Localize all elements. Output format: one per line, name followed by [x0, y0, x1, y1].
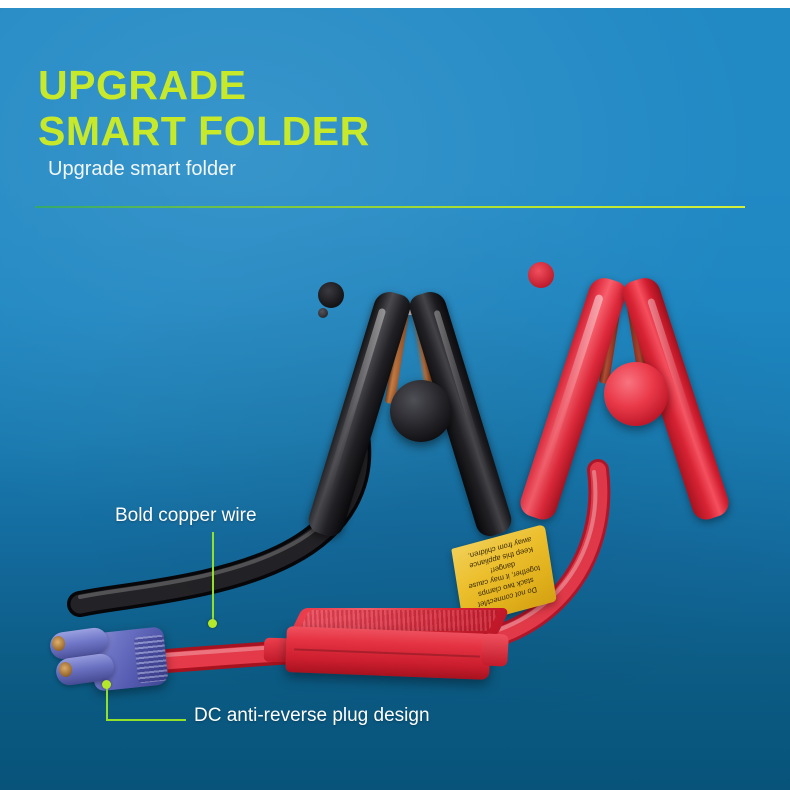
clamp-red [528, 262, 758, 572]
clamp-black-pivot-dot [318, 308, 328, 318]
clamp-black-pivot-hub [390, 380, 452, 442]
headline-line-1: UPGRADE [38, 62, 247, 108]
smart-folder-module [286, 608, 524, 680]
callout-dc-plug-marker [102, 680, 111, 689]
ec5-connector-plug [48, 628, 180, 700]
header-divider [35, 206, 745, 208]
product-banner: Do not connect/let stack two clamps toge… [0, 0, 790, 790]
warning-tag-text: Do not connect/let stack two clamps toge… [456, 531, 551, 613]
headline-line-2: SMART FOLDER [38, 108, 370, 154]
callout-bold-copper-wire-leader [212, 532, 214, 624]
subtitle: Upgrade smart folder [48, 158, 236, 181]
plug-ribbed-grip [134, 635, 169, 684]
callout-dc-plug-leader-vertical [106, 686, 108, 720]
module-right-strain-relief [481, 633, 509, 666]
clamp-red-pivot-hub [604, 362, 668, 426]
clamp-black-pivot-center [318, 282, 344, 308]
callout-dc-plug-leader-horizontal [106, 719, 186, 721]
callout-bold-copper-wire-marker [208, 619, 217, 628]
callout-bold-copper-wire-label: Bold copper wire [115, 505, 257, 527]
callout-dc-plug-label: DC anti-reverse plug design [194, 705, 430, 727]
